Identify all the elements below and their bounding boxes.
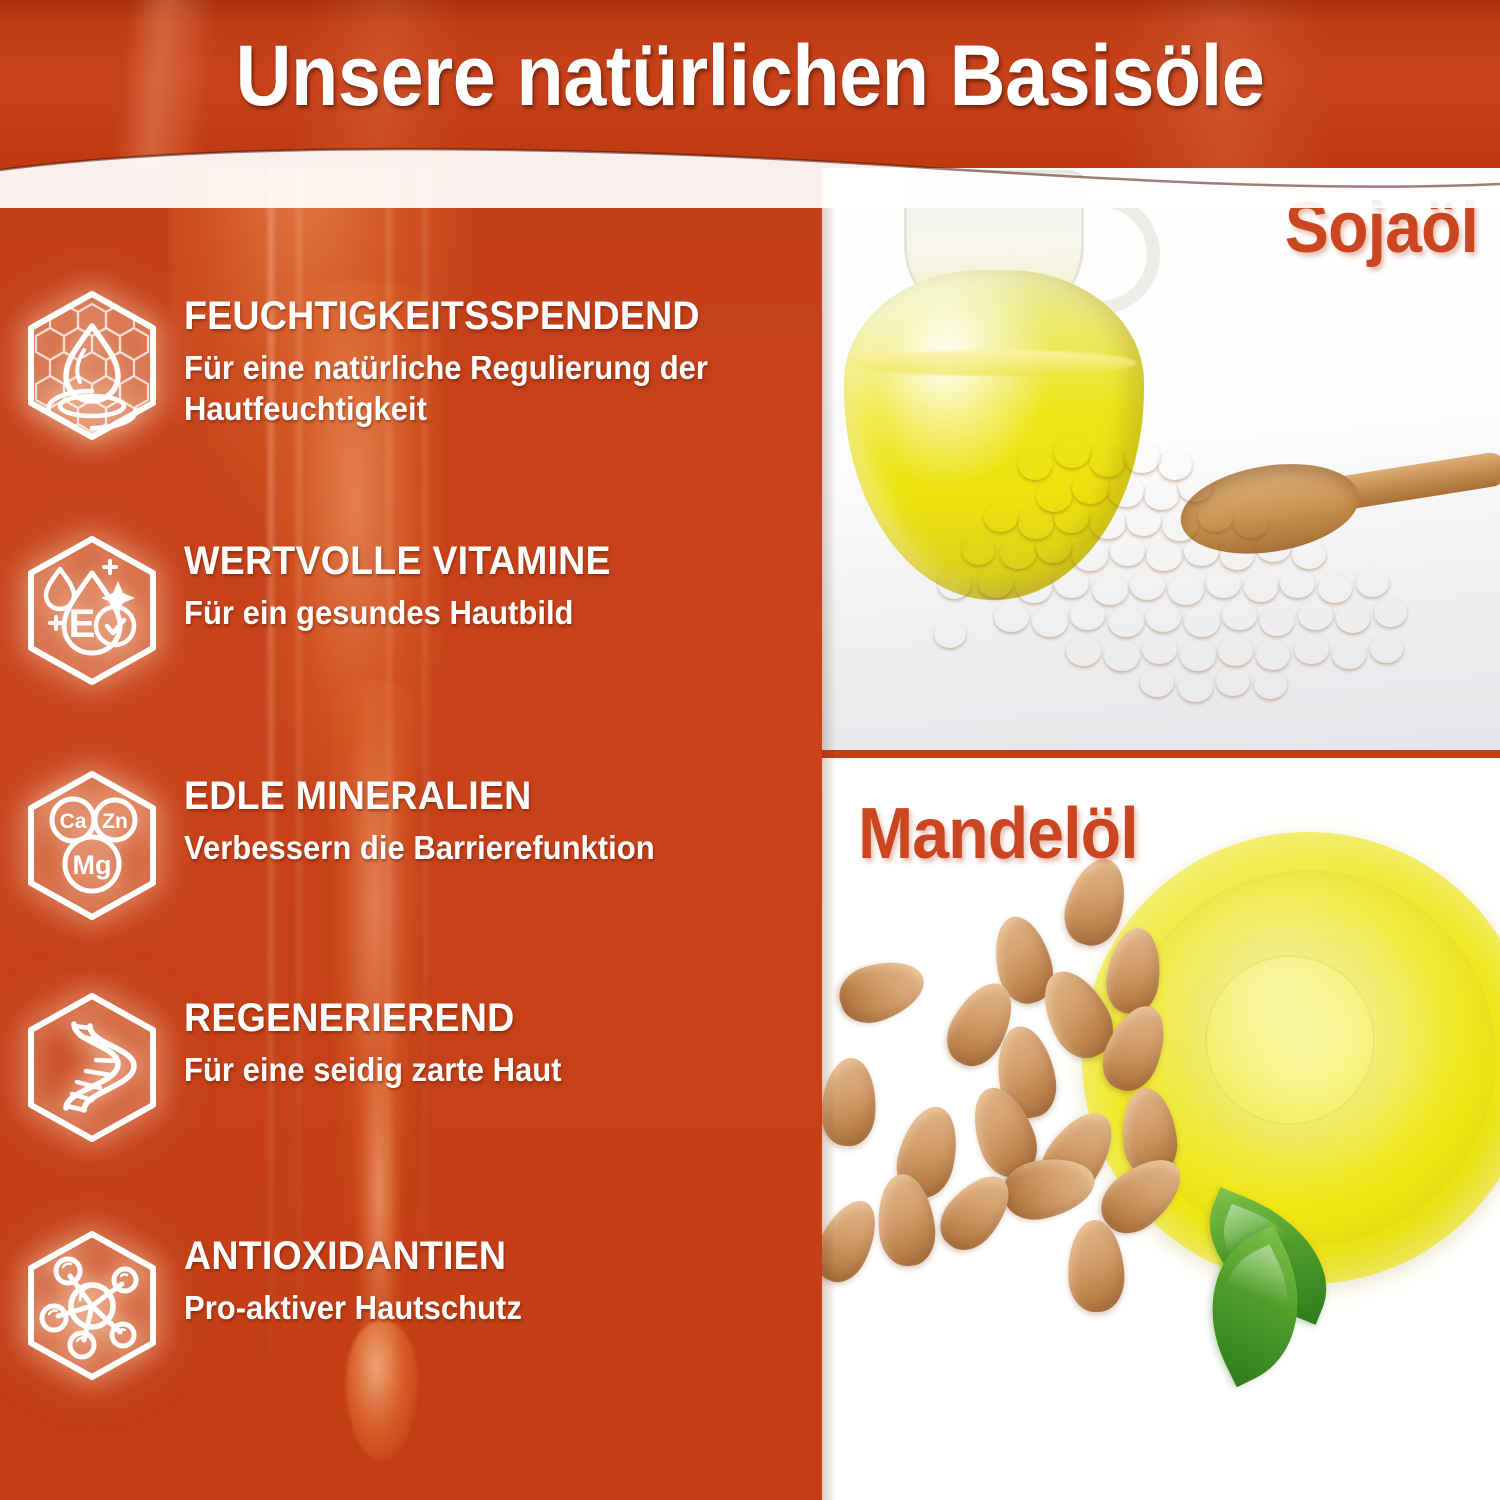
- feature-title: EDLE MINERALIEN: [184, 774, 655, 819]
- honeycomb-droplet-icon: [22, 288, 162, 443]
- feature-subtitle: Für eine seidig zarte Haut: [184, 1049, 561, 1091]
- feature-subtitle: Für eine natürliche Regulierung der Haut…: [184, 347, 784, 430]
- feature-title: ANTIOXIDANTIEN: [184, 1234, 522, 1279]
- minerals-icon: Ca Zn Mg: [22, 768, 162, 923]
- feature-title: REGENERIEREND: [184, 996, 561, 1041]
- oil-card-soy: Sojaöl: [822, 150, 1500, 750]
- infographic-canvas: Unsere natürlichen Basisöle: [0, 0, 1500, 1500]
- feature-title: FEUCHTIGKEITSSPENDEND: [184, 294, 784, 339]
- vitamin-e-droplet-icon: E: [22, 533, 162, 688]
- feature-item-regenerating: REGENERIEREND Für eine seidig zarte Haut: [22, 990, 822, 1145]
- feature-item-moisturizing: FEUCHTIGKEITSSPENDEND Für eine natürlich…: [22, 288, 822, 443]
- feature-subtitle: Für ein gesundes Hautbild: [184, 592, 611, 634]
- feature-text: WERTVOLLE VITAMINE Für ein gesundes Haut…: [184, 533, 638, 633]
- feature-item-antioxidants: ANTIOXIDANTIEN Pro-aktiver Hautschutz: [22, 1228, 822, 1383]
- feature-text: ANTIOXIDANTIEN Pro-aktiver Hautschutz: [184, 1228, 543, 1328]
- dna-helix-icon: [22, 990, 162, 1145]
- feature-text: FEUCHTIGKEITSSPENDEND Für eine natürlich…: [184, 288, 822, 430]
- oil-name-almond: Mandelöl: [858, 798, 1138, 870]
- feature-subtitle: Verbessern die Barrierefunktion: [184, 827, 655, 869]
- page-title: Unsere natürlichen Basisöle: [75, 30, 1425, 123]
- feature-text: REGENERIEREND Für eine seidig zarte Haut: [184, 990, 586, 1090]
- oils-column: Sojaöl: [822, 150, 1500, 1500]
- oil-card-divider: [822, 750, 1500, 758]
- feature-item-minerals: Ca Zn Mg EDLE MINERALIEN Verbessern die …: [22, 768, 822, 923]
- feature-text: EDLE MINERALIEN Verbessern die Barrieref…: [184, 768, 685, 868]
- mineral-symbol-zn: Zn: [102, 810, 128, 833]
- svg-text:E: E: [69, 602, 96, 646]
- header-band: Unsere natürlichen Basisöle: [0, 0, 1500, 168]
- feature-list: FEUCHTIGKEITSSPENDEND Für eine natürlich…: [0, 150, 822, 1500]
- mineral-symbol-mg: Mg: [73, 850, 112, 880]
- molecule-icon: [22, 1228, 162, 1383]
- feature-subtitle: Pro-aktiver Hautschutz: [184, 1287, 522, 1329]
- oil-name-soy: Sojaöl: [1285, 192, 1478, 264]
- mineral-symbol-ca: Ca: [60, 810, 87, 833]
- feature-title: WERTVOLLE VITAMINE: [184, 539, 611, 584]
- feature-item-vitamins: E WERTVOLLE VITAMINE Für ein gesundes Ha…: [22, 533, 822, 688]
